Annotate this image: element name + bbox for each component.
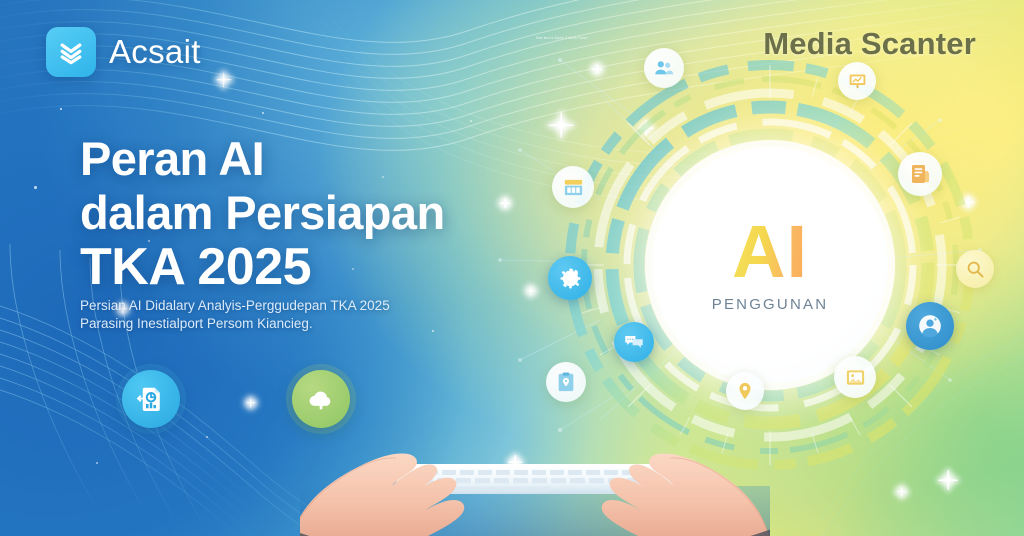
chevrons-down-icon: [56, 37, 86, 67]
ai-hub-core: AI PENGGUNAN: [652, 147, 888, 383]
badge-document-analytics: [122, 370, 180, 428]
headline-line-1: Peran AI: [80, 132, 445, 186]
cloud-upload-icon: [306, 384, 336, 414]
subtitle-line-1: Persian AI Didalary Analyis-Perggudepan …: [80, 297, 390, 315]
page-subtitle: Persian AI Didalary Analyis-Perggudepan …: [80, 297, 390, 333]
node-chat-bubbles: [614, 322, 654, 362]
page-title: Peran AI dalam Persiapan TKA 2025: [80, 132, 445, 294]
headline-line-3: TKA 2025: [80, 240, 445, 294]
node-search-circle: [956, 250, 994, 288]
hub-title: AI: [732, 217, 808, 287]
logo-mark: [46, 27, 96, 77]
node-bank-building: [552, 166, 594, 208]
search-circle-icon: [965, 259, 985, 279]
bank-building-icon: [562, 176, 585, 199]
users-group-icon: [653, 57, 675, 79]
headline-line-2: dalam Persiapan: [80, 186, 445, 240]
location-pin-icon: [735, 381, 755, 401]
logo-text: Acsait: [109, 33, 201, 71]
gear-icon: [558, 266, 583, 291]
badge-cloud-upload: [292, 370, 350, 428]
brand-logo[interactable]: Acsait: [46, 27, 201, 77]
node-settings-gear: [548, 256, 592, 300]
promotional-banner: AI PENGGUNAN: [0, 0, 1024, 536]
hub-subtitle: PENGGUNAN: [712, 296, 828, 313]
node-clipboard-location: [546, 362, 586, 402]
document-analytics-icon: [136, 384, 166, 414]
image-frame-icon: [844, 366, 867, 389]
decorative-microtext: Ssw kinLIs Zquim Z Bni A Fancv: [536, 36, 612, 40]
user-badge-icon: [917, 313, 943, 339]
partner-brand-label: Media Scanter: [763, 26, 976, 62]
node-user-badge: [906, 302, 954, 350]
chat-bubbles-icon: [623, 331, 645, 353]
node-users-group: [644, 48, 684, 88]
node-location-pin: [726, 372, 764, 410]
keyboard-and-hands: [300, 400, 770, 536]
node-image-frame: [834, 356, 876, 398]
document-list-icon: [908, 162, 932, 186]
node-document-list: [898, 152, 942, 196]
presentation-icon: [847, 71, 868, 92]
clipboard-location-icon: [555, 371, 577, 393]
subtitle-line-2: Parasing Inestialport Persom Kiancieg.: [80, 315, 390, 333]
hands-keyboard-illustration: [300, 400, 770, 536]
node-presentation: [838, 62, 876, 100]
